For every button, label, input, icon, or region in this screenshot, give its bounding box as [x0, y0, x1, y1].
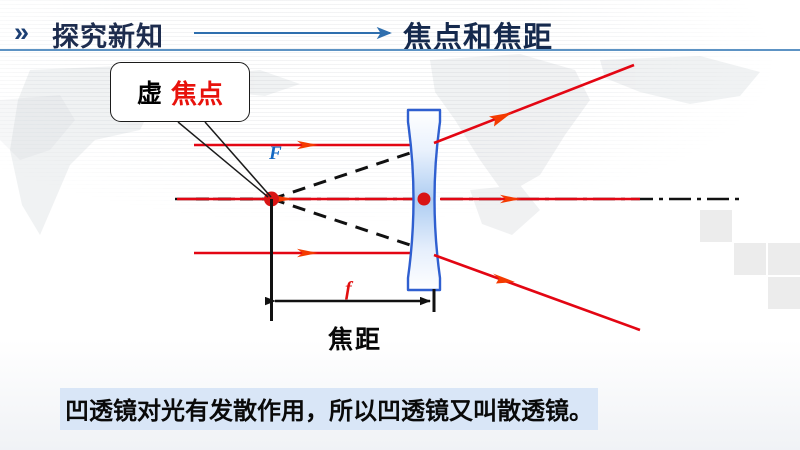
- focal-length-label: 焦距: [328, 320, 382, 356]
- virtual-focus-callout: 虚 焦点: [110, 62, 250, 122]
- focal-length-symbol: f: [345, 278, 352, 301]
- lens-center-marker: [418, 193, 431, 206]
- callout-text-red: 焦点: [171, 74, 223, 111]
- callout-text-black: 虚: [137, 74, 162, 110]
- focal-point-label: F: [269, 143, 282, 165]
- summary-caption: 凹透镜对光有发散作用，所以凹透镜又叫散透镜。: [60, 388, 598, 430]
- slide-canvas: » 探究新知 焦点和焦距: [0, 0, 800, 450]
- callout-tail-icon: [178, 122, 271, 197]
- emergent-ray-group: [434, 65, 640, 330]
